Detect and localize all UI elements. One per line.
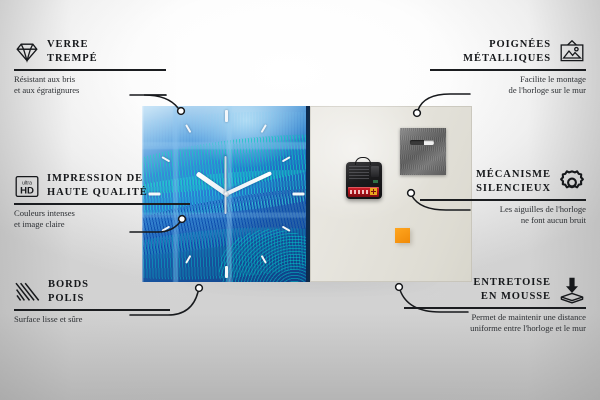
callout-header: MÉCANISME SILENCIEUX (420, 168, 586, 196)
callout-title: IMPRESSION DE HAUTE QUALITÉ (47, 172, 148, 200)
hour-tick-minor (282, 226, 291, 232)
diamond-gem-icon (14, 40, 40, 64)
callout-subtitle: Facilite le montage de l'horloge sur le … (430, 74, 586, 98)
foam-spacer (395, 228, 410, 243)
callout-subtitle: Surface lisse et sûre (14, 314, 170, 326)
clock-center-cap (224, 192, 229, 197)
callout-impression-haute-qualite[interactable]: ultra HD IMPRESSION DE HAUTE QUALITÉ Cou… (14, 172, 190, 231)
callout-rule (404, 307, 586, 308)
clock-hour-hand (195, 171, 227, 196)
callout-rule (14, 203, 190, 204)
mechanism-hanging-hook (355, 157, 371, 165)
callout-rule (14, 69, 166, 70)
infographic-stage: VERRE TREMPÉ Résistant aux bris et aux é… (0, 0, 600, 400)
callout-subtitle: Couleurs intenses et image claire (14, 208, 190, 232)
callout-bords-polis[interactable]: BORDS POLIS Surface lisse et sûre (14, 278, 170, 325)
foam-spacer-arrow-icon (558, 276, 586, 304)
hour-tick-minor (185, 255, 191, 264)
hour-tick-major (225, 110, 228, 122)
callout-title: BORDS POLIS (48, 278, 89, 306)
callout-mecanisme-silencieux[interactable]: MÉCANISME SILENCIEUX Les aiguilles de l'… (420, 168, 586, 227)
hour-tick-minor (282, 156, 291, 162)
gear-icon (558, 169, 586, 196)
callout-verre-trempe[interactable]: VERRE TREMPÉ Résistant aux bris et aux é… (14, 38, 166, 97)
callout-subtitle: Résistant aux bris et aux égratignures (14, 74, 166, 98)
callout-header: ENTRETOISE EN MOUSSE (404, 276, 586, 304)
callout-title: MÉCANISME SILENCIEUX (476, 168, 551, 196)
hour-tick-major (225, 266, 228, 278)
battery-label (350, 190, 368, 194)
hour-tick-minor (161, 156, 170, 162)
mechanism-label (373, 180, 378, 183)
callout-subtitle: Permet de maintenir une distance uniform… (404, 312, 586, 336)
aa-battery (348, 187, 379, 197)
battery-positive-terminal (370, 188, 377, 195)
silent-quartz-mechanism (346, 162, 382, 199)
hour-tick-major (292, 193, 304, 196)
ultra-hd-badge-icon: ultra HD (14, 174, 40, 199)
clock-minute-hand (225, 171, 272, 196)
clock-second-hand (225, 156, 227, 214)
callout-title: VERRE TREMPÉ (47, 38, 98, 66)
callout-rule (430, 69, 586, 70)
callout-rule (14, 309, 170, 310)
hour-tick-minor (261, 255, 267, 264)
mechanism-housing-detail (349, 166, 369, 180)
mechanism-module (371, 166, 379, 177)
callout-title: ENTRETOISE EN MOUSSE (473, 276, 551, 304)
callout-poignees-metalliques[interactable]: POIGNÉES MÉTALLIQUES Facilite le montage… (430, 38, 586, 97)
ultra-hd-icon-main-text: HD (20, 185, 34, 196)
polished-edges-lines-icon (14, 280, 41, 304)
callout-subtitle: Les aiguilles de l'horloge ne font aucun… (420, 204, 586, 228)
hour-tick-minor (261, 124, 267, 133)
callout-header: ultra HD IMPRESSION DE HAUTE QUALITÉ (14, 172, 190, 200)
hanger-mounting-slot (410, 140, 434, 145)
callout-header: VERRE TREMPÉ (14, 38, 166, 66)
callout-entretoise-en-mousse[interactable]: ENTRETOISE EN MOUSSE Permet de maintenir… (404, 276, 586, 335)
hanging-picture-frame-icon (558, 39, 586, 65)
hour-tick-minor (185, 124, 191, 133)
callout-rule (420, 199, 586, 200)
callout-header: POIGNÉES MÉTALLIQUES (430, 38, 586, 66)
callout-title: POIGNÉES MÉTALLIQUES (463, 38, 551, 66)
callout-header: BORDS POLIS (14, 278, 170, 306)
